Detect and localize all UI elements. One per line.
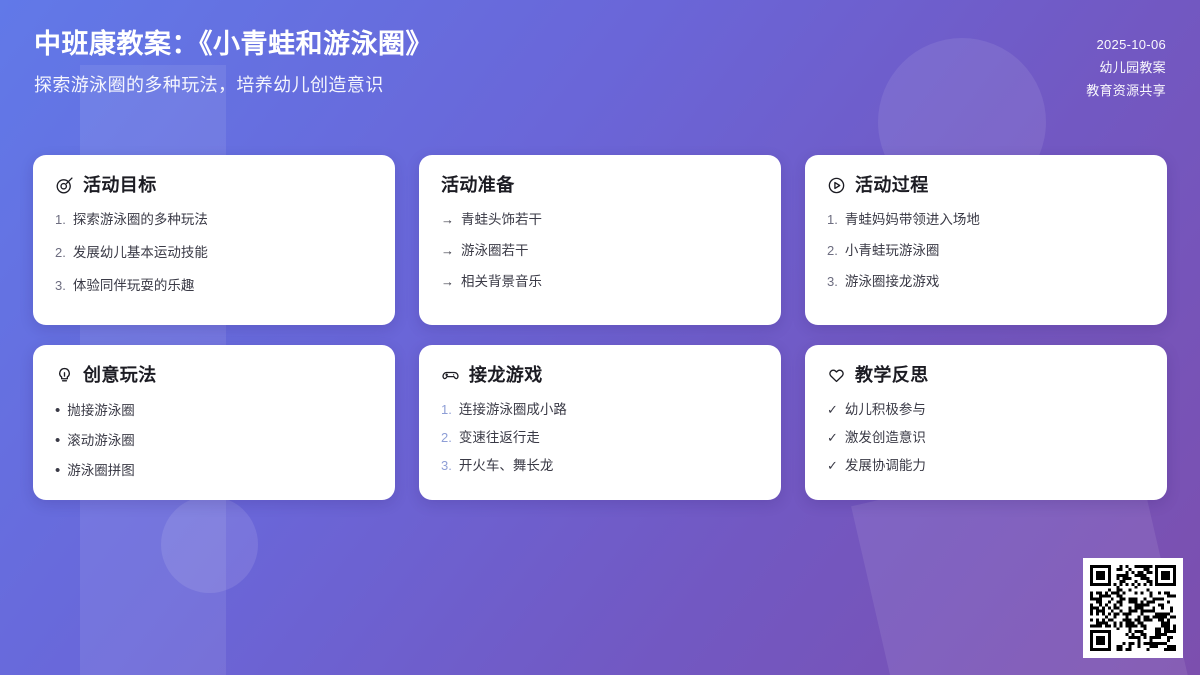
heart-icon xyxy=(827,366,846,385)
list-marker: 1. xyxy=(441,401,452,419)
card-list: 1. 连接游泳圈成小路 2. 变速往返行走 3. 开火车、舞长龙 xyxy=(441,401,759,476)
gamepad-icon xyxy=(441,366,460,385)
meta-tagline: 教育资源共享 xyxy=(1086,80,1166,103)
arrow-icon: → xyxy=(441,273,454,291)
bullet-icon: • xyxy=(55,431,60,451)
card-activity-preparation[interactable]: 活动准备 → 青蛙头饰若干 → 游泳圈若干 → 相关背景音乐 xyxy=(419,155,781,325)
meta-category: 幼儿园教案 xyxy=(1086,57,1166,80)
list-text: 发展幼儿基本运动技能 xyxy=(73,244,208,262)
header-meta-block: 2025-10-06 幼儿园教案 教育资源共享 xyxy=(1086,28,1166,102)
card-teaching-reflection[interactable]: 教学反思 ✓ 幼儿积极参与 ✓ 激发创造意识 ✓ 发展协调能力 xyxy=(805,345,1167,500)
list-text: 开火车、舞长龙 xyxy=(459,457,554,475)
check-icon: ✓ xyxy=(827,401,838,419)
card-activity-goals[interactable]: 活动目标 1. 探索游泳圈的多种玩法 2. 发展幼儿基本运动技能 3. 体验同伴… xyxy=(33,155,395,325)
list-item: 1. 青蛙妈妈带领进入场地 xyxy=(827,211,1145,229)
card-list: 1. 探索游泳圈的多种玩法 2. 发展幼儿基本运动技能 3. 体验同伴玩耍的乐趣 xyxy=(55,211,373,296)
list-item: → 相关背景音乐 xyxy=(441,273,759,291)
list-item: • 抛接游泳圈 xyxy=(55,401,373,421)
list-item: 3. 开火车、舞长龙 xyxy=(441,457,759,475)
card-title: 活动目标 xyxy=(83,175,157,197)
list-marker: 2. xyxy=(55,244,66,262)
list-text: 体验同伴玩耍的乐趣 xyxy=(73,277,195,295)
list-text: 游泳圈若干 xyxy=(461,242,529,260)
list-marker: 3. xyxy=(55,277,66,295)
list-item: 2. 变速往返行走 xyxy=(441,429,759,447)
check-icon: ✓ xyxy=(827,457,838,475)
card-grid: 活动目标 1. 探索游泳圈的多种玩法 2. 发展幼儿基本运动技能 3. 体验同伴… xyxy=(33,155,1167,500)
list-item: → 青蛙头饰若干 xyxy=(441,211,759,229)
card-header: 接龙游戏 xyxy=(441,365,759,387)
list-item: • 游泳圈拼图 xyxy=(55,461,373,481)
list-text: 幼儿积极参与 xyxy=(845,401,926,419)
bullet-icon: • xyxy=(55,401,60,421)
target-icon xyxy=(55,176,74,195)
card-header: 活动目标 xyxy=(55,175,373,197)
list-item: • 滚动游泳圈 xyxy=(55,431,373,451)
card-header: 创意玩法 xyxy=(55,365,373,387)
list-marker: 1. xyxy=(55,211,66,229)
card-list: → 青蛙头饰若干 → 游泳圈若干 → 相关背景音乐 xyxy=(441,211,759,292)
list-item: 2. 小青蛙玩游泳圈 xyxy=(827,242,1145,260)
page-title: 中班康教案：《小青蛙和游泳圈》 xyxy=(34,28,433,62)
list-text: 小青蛙玩游泳圈 xyxy=(845,242,940,260)
list-item: 3. 体验同伴玩耍的乐趣 xyxy=(55,277,373,295)
card-list: 1. 青蛙妈妈带领进入场地 2. 小青蛙玩游泳圈 3. 游泳圈接龙游戏 xyxy=(827,211,1145,292)
list-item: → 游泳圈若干 xyxy=(441,242,759,260)
card-relay-game[interactable]: 接龙游戏 1. 连接游泳圈成小路 2. 变速往返行走 3. 开火车、舞长龙 xyxy=(419,345,781,500)
list-text: 发展协调能力 xyxy=(845,457,926,475)
meta-date: 2025-10-06 xyxy=(1086,34,1166,57)
card-list: • 抛接游泳圈 • 滚动游泳圈 • 游泳圈拼图 xyxy=(55,401,373,482)
list-item: ✓ 发展协调能力 xyxy=(827,457,1145,475)
list-text: 游泳圈拼图 xyxy=(67,462,135,480)
list-item: 3. 游泳圈接龙游戏 xyxy=(827,273,1145,291)
arrow-icon: → xyxy=(441,211,454,229)
card-title: 活动准备 xyxy=(441,175,515,197)
list-text: 连接游泳圈成小路 xyxy=(459,401,567,419)
list-text: 游泳圈接龙游戏 xyxy=(845,273,940,291)
list-marker: 2. xyxy=(441,429,452,447)
card-title: 接龙游戏 xyxy=(469,365,543,387)
card-header: 活动准备 xyxy=(441,175,759,197)
list-text: 激发创造意识 xyxy=(845,429,926,447)
list-marker: 3. xyxy=(827,273,838,291)
card-header: 教学反思 xyxy=(827,365,1145,387)
list-text: 青蛙妈妈带领进入场地 xyxy=(845,211,980,229)
card-creative-play[interactable]: 创意玩法 • 抛接游泳圈 • 滚动游泳圈 • 游泳圈拼图 xyxy=(33,345,395,500)
list-text: 滚动游泳圈 xyxy=(67,432,135,450)
list-text: 青蛙头饰若干 xyxy=(461,211,542,229)
list-item: 1. 探索游泳圈的多种玩法 xyxy=(55,211,373,229)
page-subtitle: 探索游泳圈的多种玩法，培养幼儿创造意识 xyxy=(34,74,433,97)
card-header: 活动过程 xyxy=(827,175,1145,197)
slide-header: 中班康教案：《小青蛙和游泳圈》 探索游泳圈的多种玩法，培养幼儿创造意识 2025… xyxy=(0,0,1200,140)
list-item: ✓ 激发创造意识 xyxy=(827,429,1145,447)
lightbulb-icon xyxy=(55,366,74,385)
card-activity-process[interactable]: 活动过程 1. 青蛙妈妈带领进入场地 2. 小青蛙玩游泳圈 3. 游泳圈接龙游戏 xyxy=(805,155,1167,325)
list-marker: 2. xyxy=(827,242,838,260)
qr-code[interactable] xyxy=(1083,558,1183,658)
list-marker: 3. xyxy=(441,457,452,475)
list-text: 相关背景音乐 xyxy=(461,273,542,291)
list-item: 1. 连接游泳圈成小路 xyxy=(441,401,759,419)
list-text: 变速往返行走 xyxy=(459,429,540,447)
bullet-icon: • xyxy=(55,461,60,481)
list-item: 2. 发展幼儿基本运动技能 xyxy=(55,244,373,262)
play-circle-icon xyxy=(827,176,846,195)
check-icon: ✓ xyxy=(827,429,838,447)
slide-canvas: 中班康教案：《小青蛙和游泳圈》 探索游泳圈的多种玩法，培养幼儿创造意识 2025… xyxy=(0,0,1200,675)
card-title: 活动过程 xyxy=(855,175,929,197)
list-text: 探索游泳圈的多种玩法 xyxy=(73,211,208,229)
card-list: ✓ 幼儿积极参与 ✓ 激发创造意识 ✓ 发展协调能力 xyxy=(827,401,1145,476)
list-text: 抛接游泳圈 xyxy=(67,402,135,420)
card-title: 创意玩法 xyxy=(83,365,157,387)
decorative-circle-bottom-left xyxy=(161,496,258,593)
header-text-block: 中班康教案：《小青蛙和游泳圈》 探索游泳圈的多种玩法，培养幼儿创造意识 xyxy=(34,28,433,97)
list-item: ✓ 幼儿积极参与 xyxy=(827,401,1145,419)
list-marker: 1. xyxy=(827,211,838,229)
card-title: 教学反思 xyxy=(855,365,929,387)
arrow-icon: → xyxy=(441,242,454,260)
